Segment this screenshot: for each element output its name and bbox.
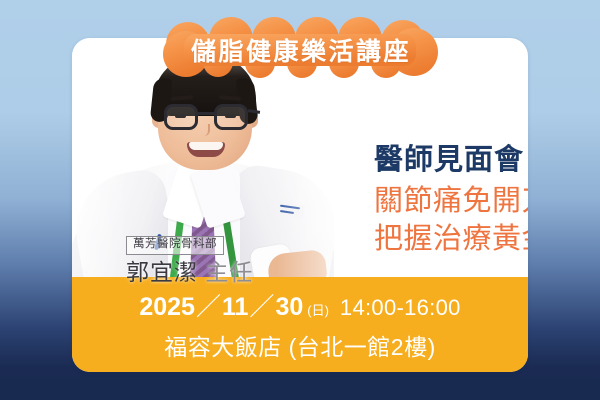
doctor-name-line: 郭宜潔 主任 <box>126 260 253 286</box>
doctor-name: 郭宜潔 <box>126 259 198 285</box>
event-month: 11 <box>222 293 248 322</box>
doctor-caption: 萬芳醫院骨科部 郭宜潔 主任 <box>126 234 253 285</box>
event-info-bar: 2025 ／ 11 ／ 30 (日) 14:00-16:00 福容大飯店 (台北… <box>72 277 528 372</box>
headline-block: 醫師見面會 關節痛免開刀! 把握治療黃金期 <box>374 142 528 258</box>
event-time: 14:00-16:00 <box>331 295 461 321</box>
headline-line-2: 關節痛免開刀! <box>374 183 528 221</box>
doctor-department: 萬芳醫院骨科部 <box>126 236 224 255</box>
date-slash-2: ／ <box>248 287 275 323</box>
event-year: 2025 <box>139 293 195 322</box>
event-venue: 福容大飯店 (台北一館2樓) <box>164 328 436 362</box>
event-datetime: 2025 ／ 11 ／ 30 (日) 14:00-16:00 <box>139 287 460 323</box>
doctor-title: 主任 <box>205 259 253 285</box>
event-day: 30 <box>275 293 303 322</box>
headline-line-1: 醫師見面會 <box>374 142 528 179</box>
headline-line-3: 把握治療黃金期 <box>374 221 528 259</box>
poster-card: 萬芳醫院骨科部 郭宜潔 主任 醫師見面會 關節痛免開刀! 把握治療黃金期 202… <box>72 38 528 372</box>
date-slash-1: ／ <box>195 287 222 323</box>
title-badge: 儲脂健康樂活講座 <box>158 22 442 77</box>
event-weekday: (日) <box>303 300 331 319</box>
title-badge-label: 儲脂健康樂活講座 <box>158 22 442 77</box>
